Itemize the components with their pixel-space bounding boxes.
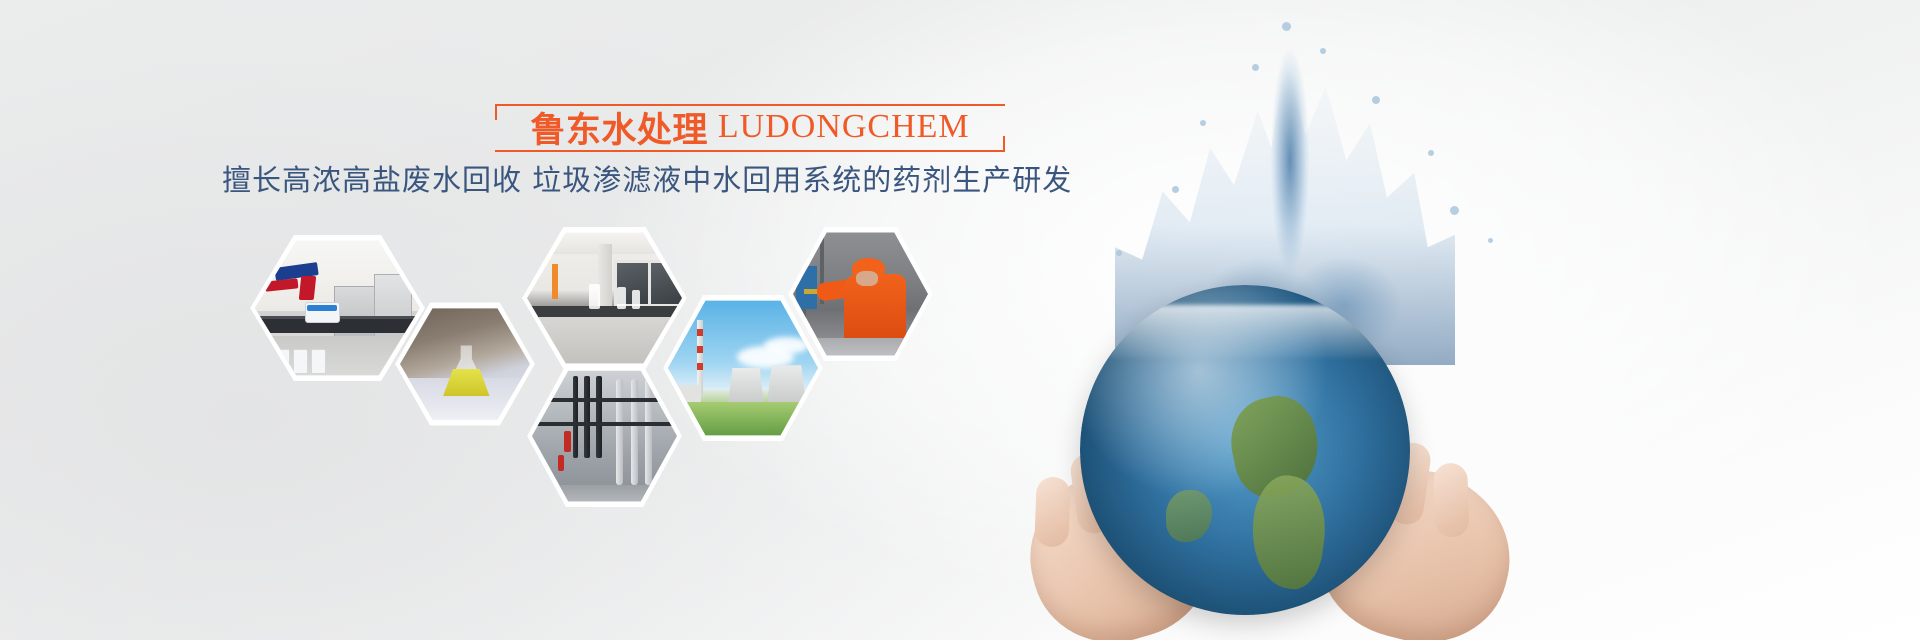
earth-globe [1080, 285, 1410, 615]
hex-photo-lab-glassware [522, 224, 687, 372]
hero-banner: 鲁东水处理 LUDONGCHEM 擅长高浓高盐废水回收 垃圾渗滤液中水回用系统的… [0, 0, 1920, 640]
hex-photo-power-plant [663, 292, 823, 444]
hex-photo-ro-membrane-skid [527, 362, 682, 510]
hexagon-photo-cluster [0, 0, 1000, 640]
water-globe-artwork [1020, 0, 1920, 640]
hex-photo-plant-worker [788, 224, 933, 364]
